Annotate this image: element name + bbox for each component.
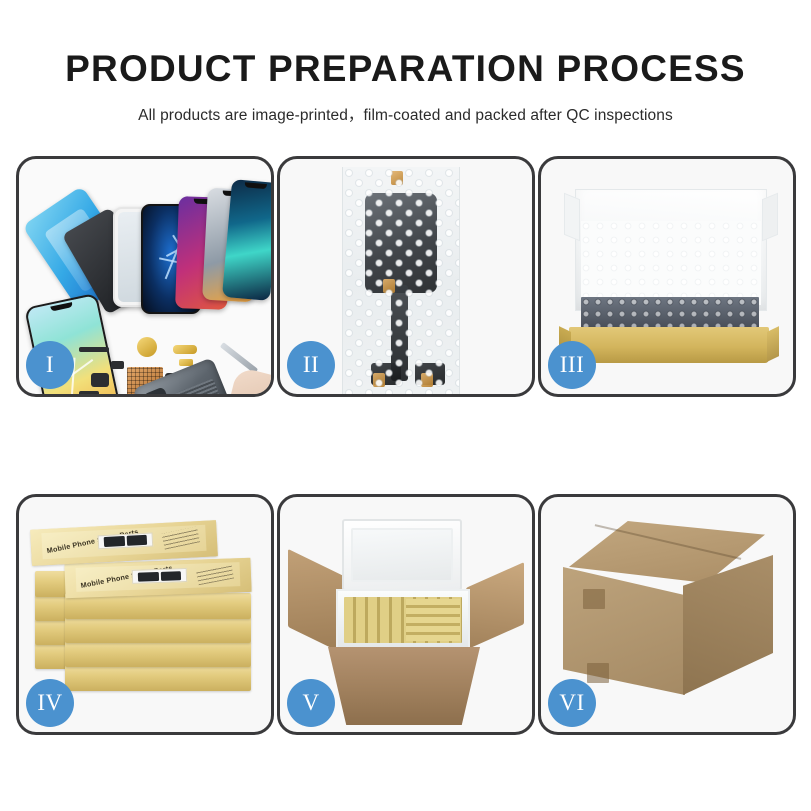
carton-tape-upper (583, 589, 605, 609)
step-badge-1: I (26, 341, 74, 389)
step-badge-3: III (548, 341, 596, 389)
box-spec-lines-front (196, 564, 234, 585)
small-connector-part (111, 361, 124, 369)
cardboard-carton-body (328, 647, 480, 725)
step-badge-2: II (287, 341, 335, 389)
process-step-panel-4: Mobile Phone Spare Parts Mobile Phone Sp… (16, 494, 274, 735)
bubble-texture (343, 167, 459, 394)
sealed-carton-front (563, 567, 685, 695)
carton-tape-lower (587, 663, 609, 683)
box-product-photo-front (132, 568, 188, 584)
foam-liner-with-boxes (336, 589, 470, 651)
button-cable-part (79, 391, 99, 394)
camera-module-part (91, 373, 109, 387)
step-badge-6: VI (548, 679, 596, 727)
gold-tray-base (569, 327, 769, 363)
foam-lid-open (342, 519, 462, 591)
tweezers-tool (220, 342, 258, 374)
packed-gold-boxes-row-2 (406, 599, 460, 641)
retail-box-right-3 (65, 641, 251, 667)
white-foam-sheet (581, 221, 761, 305)
carton-flap-right (466, 562, 524, 650)
header: PRODUCT PREPARATION PROCESS All products… (0, 0, 811, 125)
infographic-page: PRODUCT PREPARATION PROCESS All products… (0, 0, 811, 811)
gold-flex-part (173, 345, 197, 354)
box-spec-lines-top (162, 527, 200, 550)
technician-hand (225, 366, 271, 394)
step-badge-4: IV (26, 679, 74, 727)
process-step-panel-1: I (16, 156, 274, 397)
bubble-wrapped-contents (581, 297, 759, 329)
antenna-strip-part (79, 347, 109, 352)
step-badge-5: V (287, 679, 335, 727)
retail-box-label-front: Mobile Phone Spare Parts (76, 562, 240, 591)
bubble-wrap-bag (342, 167, 460, 394)
retail-box-right-4 (65, 665, 251, 691)
retail-box-right-2 (65, 617, 251, 643)
page-subtitle: All products are image-printed，film-coat… (0, 103, 811, 125)
process-step-grid: I II (16, 156, 796, 736)
process-step-panel-2: II (277, 156, 535, 397)
process-step-panel-5: V (277, 494, 535, 735)
box-product-photo-top (97, 532, 153, 549)
retail-box-label-top: Mobile Phone Spare Parts (42, 525, 207, 559)
retail-box-labeled-front: Mobile Phone Spare Parts (64, 558, 251, 598)
speaker-coil-part (137, 337, 157, 357)
process-step-panel-6: VI (538, 494, 796, 735)
page-title: PRODUCT PREPARATION PROCESS (0, 48, 811, 90)
process-step-panel-3: III (538, 156, 796, 397)
